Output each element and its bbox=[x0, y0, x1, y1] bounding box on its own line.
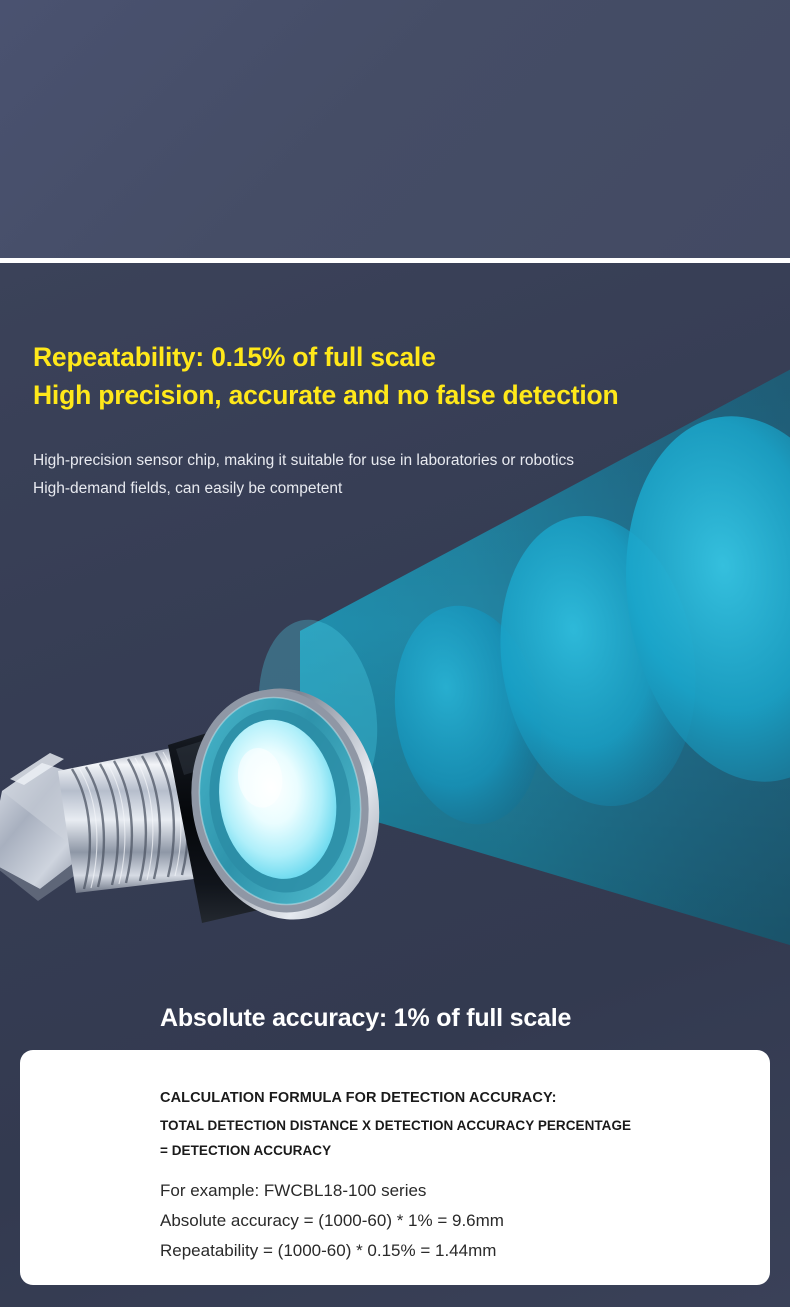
example-line-2: Absolute accuracy = (1000-60) * 1% = 9.6… bbox=[160, 1206, 770, 1236]
top-banner bbox=[0, 0, 790, 258]
headline-line-1: Repeatability: 0.15% of full scale bbox=[33, 338, 733, 376]
hero-section: Repeatability: 0.15% of full scale High … bbox=[0, 263, 790, 1307]
subtext-block: High-precision sensor chip, making it su… bbox=[33, 447, 733, 503]
cylindrical-laser-distance-sensor bbox=[0, 593, 460, 973]
example-line-1: For example: FWCBL18-100 series bbox=[160, 1176, 770, 1206]
subtext-line-1: High-precision sensor chip, making it su… bbox=[33, 447, 733, 475]
formula-line-2: = DETECTION ACCURACY bbox=[160, 1138, 770, 1163]
formula-card: CALCULATION FORMULA FOR DETECTION ACCURA… bbox=[20, 1050, 770, 1285]
headline-line-2: High precision, accurate and no false de… bbox=[33, 376, 733, 414]
headline-block: Repeatability: 0.15% of full scale High … bbox=[33, 338, 733, 414]
formula-card-inner: CALCULATION FORMULA FOR DETECTION ACCURA… bbox=[20, 1050, 770, 1266]
example-block: For example: FWCBL18-100 series Absolute… bbox=[160, 1176, 770, 1266]
example-line-3: Repeatability = (1000-60) * 0.15% = 1.44… bbox=[160, 1236, 770, 1266]
formula-title: CALCULATION FORMULA FOR DETECTION ACCURA… bbox=[160, 1083, 770, 1113]
subtext-line-2: High-demand fields, can easily be compet… bbox=[33, 475, 733, 503]
formula-line-1: TOTAL DETECTION DISTANCE X DETECTION ACC… bbox=[160, 1113, 770, 1138]
absolute-accuracy-heading: Absolute accuracy: 1% of full scale bbox=[160, 1004, 571, 1033]
